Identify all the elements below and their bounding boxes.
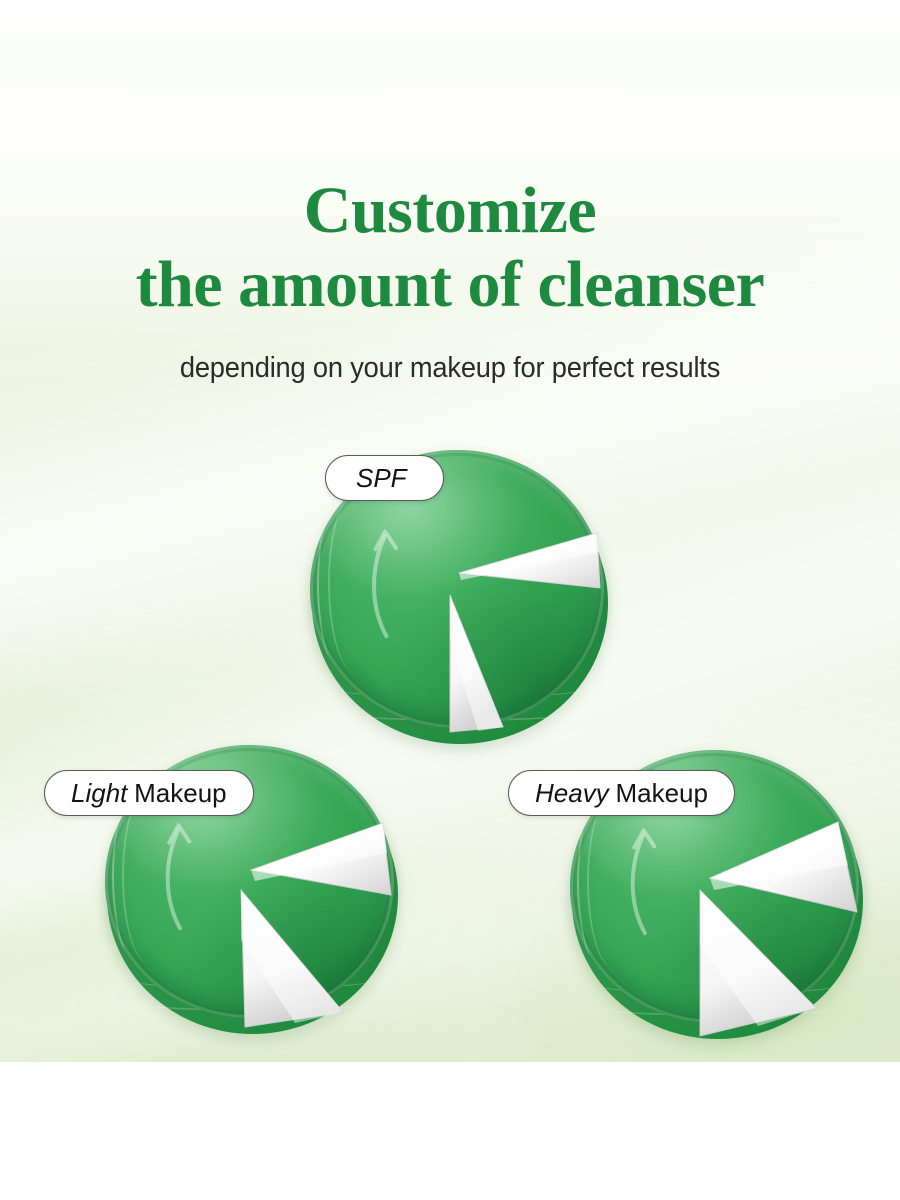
label-spf-emphasis: SPF: [356, 465, 407, 491]
subheadline: depending on your makeup for perfect res…: [27, 352, 873, 385]
jar-spf-lid-shadow: [392, 561, 604, 728]
jar-spf-arrow-icon: [357, 522, 416, 644]
cleanser-dosage-infographic: Customize the amount of cleanser dependi…: [0, 0, 900, 1200]
jar-heavy-arrow-icon: [616, 821, 674, 941]
jar-heavy-lid-shadow: [651, 859, 859, 1023]
headline-line-2: the amount of cleanser: [0, 252, 900, 318]
label-heavy-rest: Makeup: [615, 780, 708, 806]
label-light-emphasis: Light: [71, 780, 127, 806]
label-pill-light-makeup: LightMakeup: [44, 770, 254, 816]
jar-light-arrow-icon: [151, 816, 209, 936]
jar-light-lid-shadow: [186, 854, 394, 1018]
label-pill-spf: SPF: [325, 455, 444, 501]
label-pill-heavy-makeup: HeavyMakeup: [508, 770, 735, 816]
label-heavy-emphasis: Heavy: [535, 780, 609, 806]
bottom-letterbox: [0, 1062, 900, 1200]
label-light-rest: Makeup: [134, 780, 227, 806]
headline-line-1: Customize: [0, 178, 900, 244]
